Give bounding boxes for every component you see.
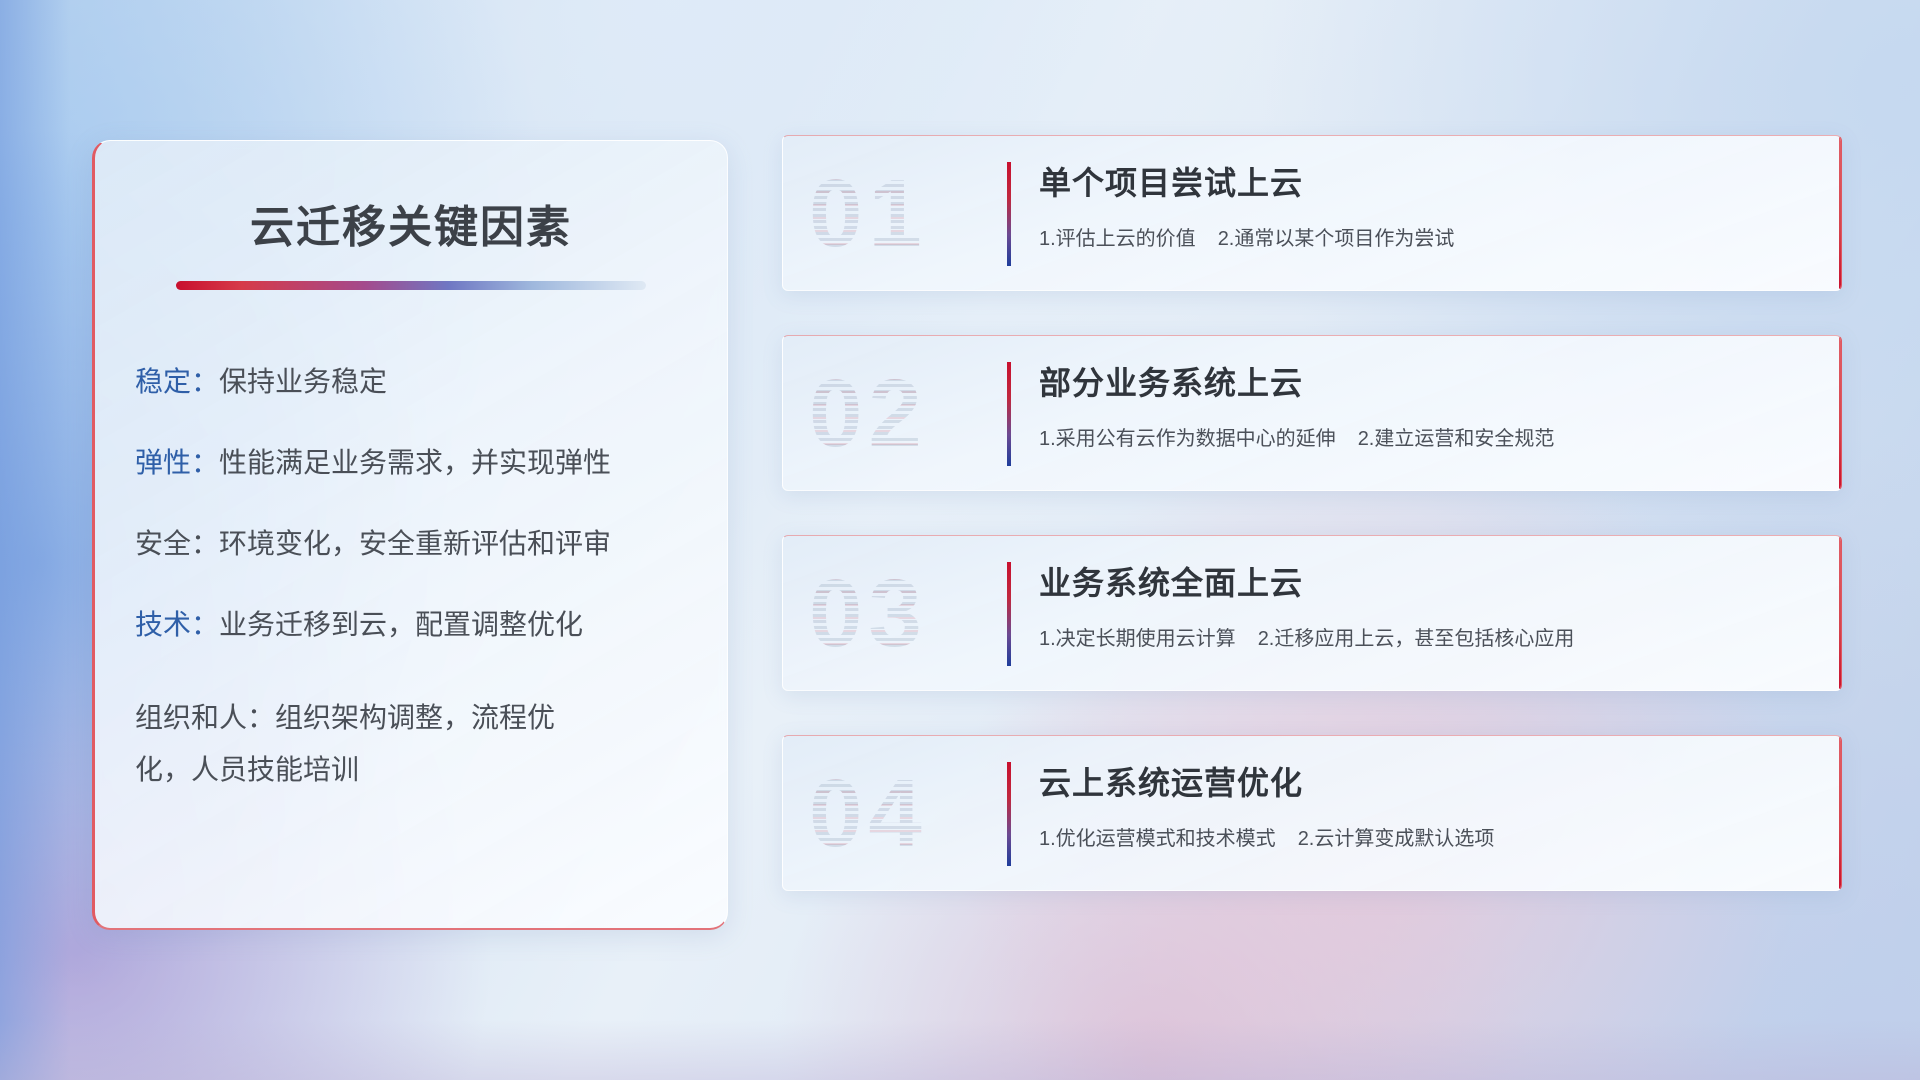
- stage-point-1: 1.优化运营模式和技术模式: [1039, 828, 1276, 850]
- background-left-glow: [0, 0, 70, 1080]
- key-factors-panel: 云迁移关键因素 稳定：保持业务稳定 弹性：性能满足业务需求，并实现弹性 安全：环…: [92, 140, 728, 930]
- key-factors-list: 稳定：保持业务稳定 弹性：性能满足业务需求，并实现弹性 安全：环境变化，安全重新…: [95, 368, 727, 796]
- stage-cards-list: 01 01 单个项目尝试上云 1.评估上云的价值2.通常以某个项目作为尝试 02…: [782, 135, 1842, 935]
- list-item: 技术：业务迁移到云，配置调整优化: [135, 611, 727, 639]
- stage-card[interactable]: 03 03 业务系统全面上云 1.决定长期使用云计算2.迁移应用上云，甚至包括核…: [782, 535, 1842, 691]
- list-item: 弹性：性能满足业务需求，并实现弹性: [135, 449, 727, 477]
- stage-point-2: 2.迁移应用上云，甚至包括核心应用: [1258, 628, 1575, 650]
- stage-point-1: 1.决定长期使用云计算: [1039, 628, 1236, 650]
- stage-card-body: 云上系统运营优化 1.优化运营模式和技术模式2.云计算变成默认选项: [1039, 758, 1801, 851]
- stage-number-ghost-tint: 04: [809, 754, 989, 874]
- stage-card[interactable]: 01 01 单个项目尝试上云 1.评估上云的价值2.通常以某个项目作为尝试: [782, 135, 1842, 291]
- list-item-text: 业务迁移到云，配置调整优化: [219, 609, 583, 640]
- list-item-key: 稳定：: [135, 366, 219, 397]
- stage-point-2: 2.通常以某个项目作为尝试: [1218, 228, 1455, 250]
- accent-bar: [1007, 762, 1011, 866]
- accent-bar: [1007, 162, 1011, 266]
- stage-card[interactable]: 04 04 云上系统运营优化 1.优化运营模式和技术模式2.云计算变成默认选项: [782, 735, 1842, 891]
- stage-card[interactable]: 02 02 部分业务系统上云 1.采用公有云作为数据中心的延伸2.建立运营和安全…: [782, 335, 1842, 491]
- stage-point-1: 1.采用公有云作为数据中心的延伸: [1039, 428, 1336, 450]
- stage-number-ghost-tint: 01: [809, 154, 989, 274]
- list-item-key: 安全：: [135, 528, 219, 559]
- list-item: 稳定：保持业务稳定: [135, 368, 727, 396]
- list-item: 组织和人：组织架构调整，流程优化，人员技能培训: [135, 692, 605, 796]
- list-item-key: 组织和人：: [135, 702, 275, 733]
- stage-card-description: 1.优化运营模式和技术模式2.云计算变成默认选项: [1039, 822, 1801, 851]
- title-underline-gradient: [176, 281, 646, 290]
- stage-card-title: 部分业务系统上云: [1039, 358, 1801, 404]
- stage-point-2: 2.建立运营和安全规范: [1358, 428, 1555, 450]
- stage-card-description: 1.决定长期使用云计算2.迁移应用上云，甚至包括核心应用: [1039, 622, 1801, 651]
- list-item-text: 保持业务稳定: [219, 366, 387, 397]
- list-item-key: 技术：: [135, 609, 219, 640]
- stage-card-description: 1.采用公有云作为数据中心的延伸2.建立运营和安全规范: [1039, 422, 1801, 451]
- accent-bar: [1007, 362, 1011, 466]
- stage-card-body: 单个项目尝试上云 1.评估上云的价值2.通常以某个项目作为尝试: [1039, 158, 1801, 251]
- accent-bar: [1007, 562, 1011, 666]
- stage-card-title: 业务系统全面上云: [1039, 558, 1801, 604]
- panel-title: 云迁移关键因素: [95, 191, 727, 255]
- list-item: 安全：环境变化，安全重新评估和评审: [135, 530, 727, 558]
- stage-point-2: 2.云计算变成默认选项: [1298, 828, 1495, 850]
- list-item-key: 弹性：: [135, 447, 219, 478]
- background-bottom-glow: [0, 1020, 1920, 1080]
- stage-card-description: 1.评估上云的价值2.通常以某个项目作为尝试: [1039, 222, 1801, 251]
- stage-card-title: 云上系统运营优化: [1039, 758, 1801, 804]
- stage-card-body: 业务系统全面上云 1.决定长期使用云计算2.迁移应用上云，甚至包括核心应用: [1039, 558, 1801, 651]
- stage-point-1: 1.评估上云的价值: [1039, 228, 1196, 250]
- stage-number-ghost-tint: 02: [809, 354, 989, 474]
- stage-number-ghost-tint: 03: [809, 554, 989, 674]
- stage-card-body: 部分业务系统上云 1.采用公有云作为数据中心的延伸2.建立运营和安全规范: [1039, 358, 1801, 451]
- stage-card-title: 单个项目尝试上云: [1039, 158, 1801, 204]
- list-item-text: 环境变化，安全重新评估和评审: [219, 528, 611, 559]
- list-item-text: 性能满足业务需求，并实现弹性: [219, 447, 611, 478]
